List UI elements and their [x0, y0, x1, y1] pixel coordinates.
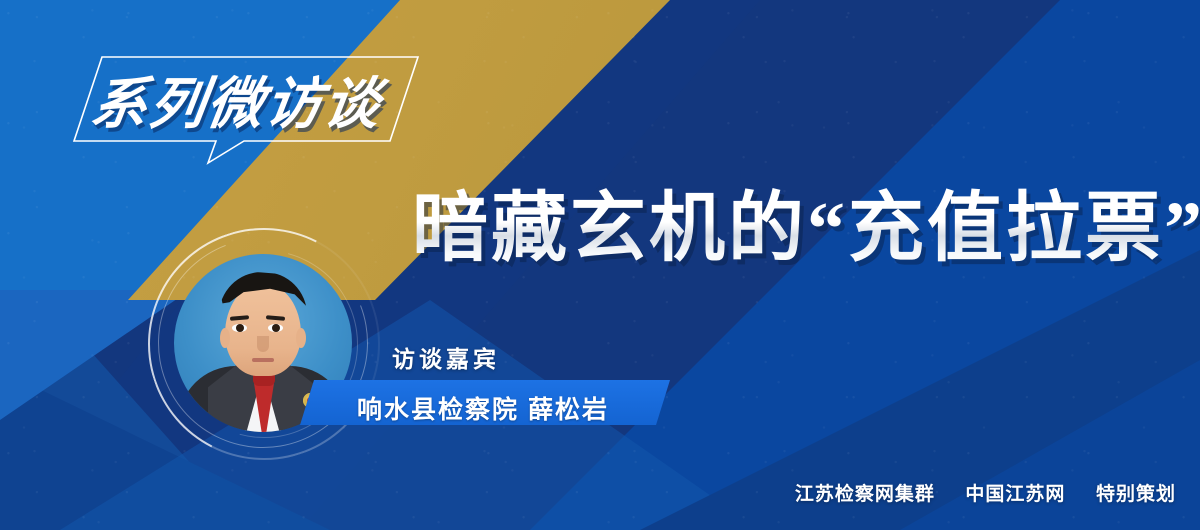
footer-credits: 江苏检察网集群 中国江苏网 特别策划: [795, 479, 1176, 506]
interview-banner: 系列微访谈 暗藏玄机的“充值拉票” 访谈嘉宾: [0, 0, 1200, 530]
guest-portrait: [148, 228, 380, 460]
page-title: 暗藏玄机的“充值拉票”: [412, 186, 1200, 272]
footer-site: 中国江苏网: [965, 484, 1065, 505]
footer-cluster: 江苏检察网集群: [795, 484, 935, 505]
avatar-mouth: [252, 358, 274, 362]
footer-special: 特别策划: [1096, 484, 1176, 505]
guest-name-text: 响水县检察院 薛松岩: [357, 390, 609, 426]
avatar-eye-right: [268, 324, 283, 332]
avatar-eye-left: [232, 324, 247, 332]
series-badge: 系列微访谈: [60, 55, 420, 160]
guest-role-label: 访谈嘉宾: [392, 340, 500, 374]
series-title: 系列微访谈: [86, 59, 387, 140]
avatar-nose: [257, 336, 269, 352]
avatar-ear-right: [296, 328, 306, 348]
avatar-ear-left: [220, 328, 230, 348]
